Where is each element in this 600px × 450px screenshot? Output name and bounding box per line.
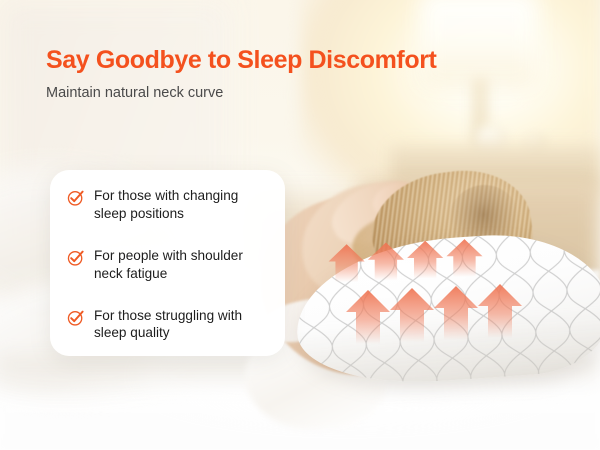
feature-list-card: For those with changing sleep positions … bbox=[50, 170, 285, 356]
arrow-row-upper bbox=[329, 239, 483, 282]
check-circle-icon bbox=[66, 248, 85, 267]
list-item: For those struggling with sleep quality bbox=[66, 307, 271, 342]
list-item-label: For those with changing sleep positions bbox=[94, 187, 271, 222]
arrow-row-lower bbox=[346, 284, 522, 344]
page-title: Say Goodbye to Sleep Discomfort bbox=[46, 46, 436, 75]
check-circle-icon bbox=[66, 308, 85, 327]
check-circle-icon bbox=[66, 188, 85, 207]
list-item: For those with changing sleep positions bbox=[66, 187, 271, 222]
list-item-label: For people with shoulder neck fatigue bbox=[94, 247, 271, 282]
list-item-label: For those struggling with sleep quality bbox=[94, 307, 271, 342]
page-subtitle: Maintain natural neck curve bbox=[46, 85, 223, 101]
list-item: For people with shoulder neck fatigue bbox=[66, 247, 271, 282]
promo-banner: Say Goodbye to Sleep Discomfort Maintain… bbox=[0, 0, 600, 450]
